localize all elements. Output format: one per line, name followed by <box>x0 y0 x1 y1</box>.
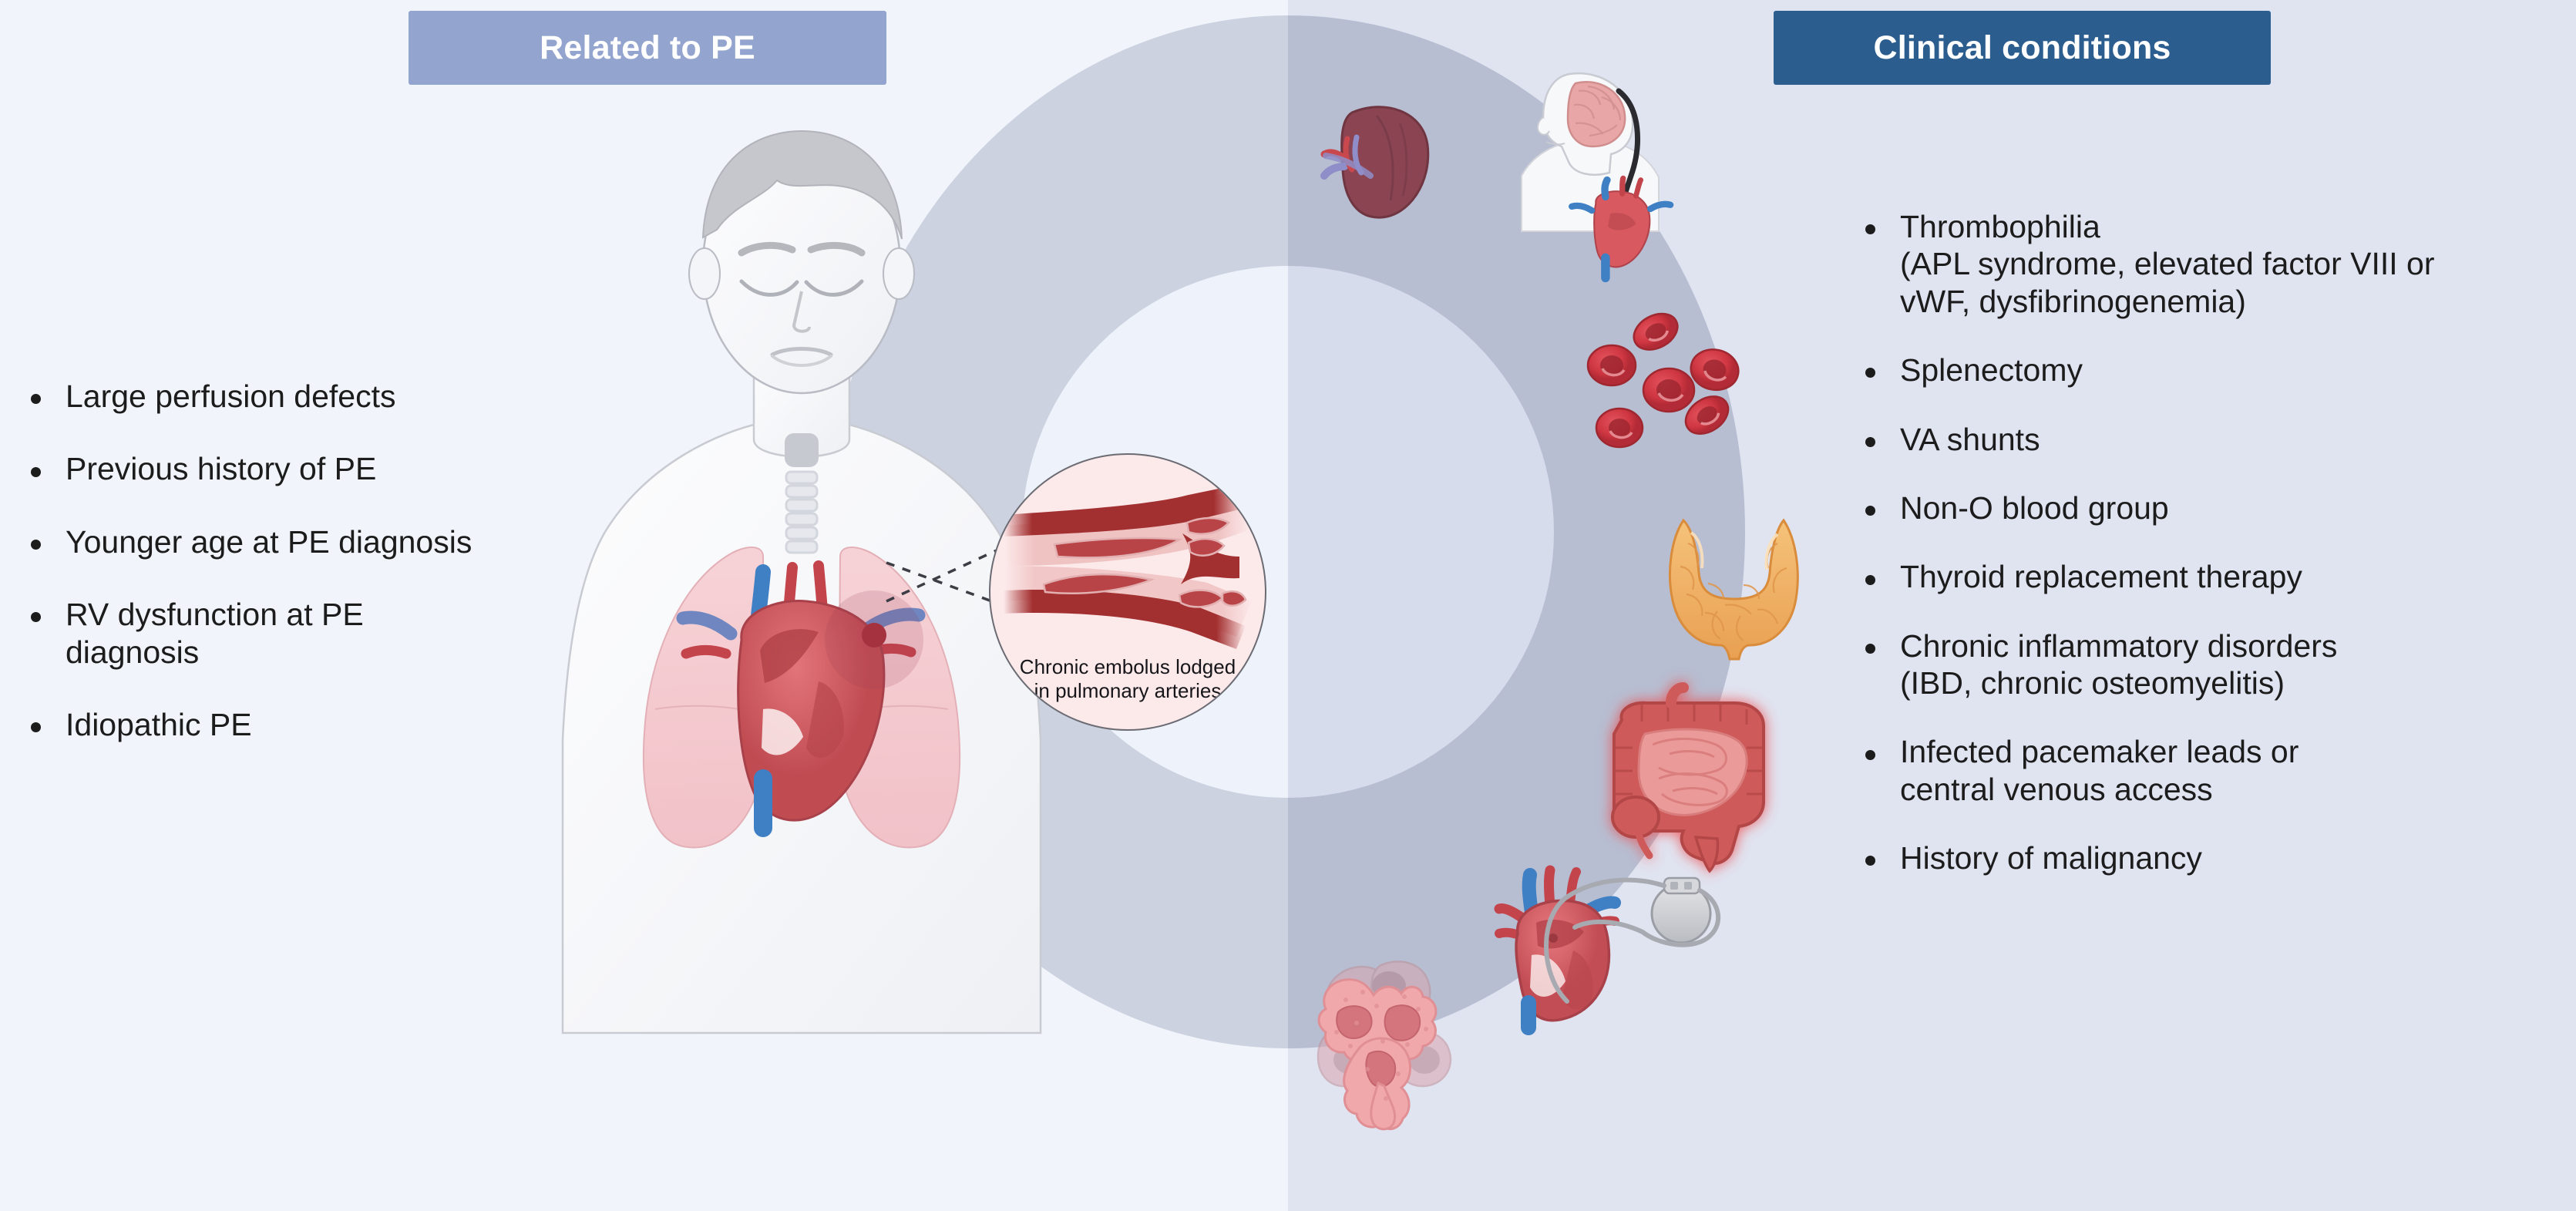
clinical-condition-label: Thrombophilia (APL syndrome, elevated fa… <box>1900 208 2435 320</box>
related-to-pe-item: RV dysfunction at PE diagnosis <box>31 596 617 671</box>
intestines-icon <box>1588 686 1796 879</box>
clinical-condition-item: Chronic inflammatory disorders (IBD, chr… <box>1865 627 2559 702</box>
clinical-condition-item: History of malignancy <box>1865 839 2559 876</box>
clinical-condition-label: Splenectomy <box>1900 352 2083 389</box>
clinical-condition-item: Non-O blood group <box>1865 489 2559 526</box>
clinical-condition-label: Infected pacemaker leads or central veno… <box>1900 733 2299 808</box>
header-chip-related-to-pe: Related to PE <box>409 11 886 85</box>
infographic-canvas: Chronic embolus lodged in pulmonary arte… <box>0 0 2576 1211</box>
heart-pacemaker-icon <box>1499 867 1754 1044</box>
bullet-dot-icon <box>31 467 41 477</box>
related-to-pe-item: Younger age at PE diagnosis <box>31 523 617 560</box>
bullet-dot-icon <box>31 540 41 550</box>
related-to-pe-label: RV dysfunction at PE diagnosis <box>66 596 364 671</box>
clinical-condition-label: VA shunts <box>1900 421 2040 458</box>
related-to-pe-label: Younger age at PE diagnosis <box>66 523 472 560</box>
clinical-conditions-list: Thrombophilia (APL syndrome, elevated fa… <box>1865 208 2559 909</box>
embolized-artery-illustration <box>1000 486 1255 651</box>
va-shunt-head-icon <box>1495 60 1673 245</box>
ring-hole-right <box>1288 266 1554 798</box>
clinical-condition-label: Thyroid replacement therapy <box>1900 558 2302 595</box>
header-chip-clinical-conditions: Clinical conditions <box>1774 11 2271 85</box>
bullet-dot-icon <box>1865 224 1875 234</box>
bullet-dot-icon <box>1865 644 1875 654</box>
related-to-pe-label: Idiopathic PE <box>66 706 252 743</box>
clinical-condition-label: Chronic inflammatory disorders (IBD, chr… <box>1900 627 2337 702</box>
bullet-dot-icon <box>31 394 41 404</box>
tumor-cells-icon <box>1303 952 1480 1145</box>
thyroid-gland-icon <box>1650 513 1819 663</box>
bullet-dot-icon <box>1865 575 1875 585</box>
bullet-dot-icon <box>31 612 41 622</box>
chronic-embolus-callout: Chronic embolus lodged in pulmonary arte… <box>989 453 1266 731</box>
bullet-dot-icon <box>31 722 41 732</box>
clinical-condition-item: Infected pacemaker leads or central veno… <box>1865 733 2559 808</box>
bullet-dot-icon <box>1865 368 1875 378</box>
clinical-condition-item: Splenectomy <box>1865 352 2559 389</box>
bullet-dot-icon <box>1865 437 1875 447</box>
related-to-pe-list: Large perfusion defectsPrevious history … <box>31 378 617 779</box>
related-to-pe-item: Large perfusion defects <box>31 378 617 415</box>
bullet-dot-icon <box>1865 856 1875 866</box>
clinical-condition-item: Thrombophilia (APL syndrome, elevated fa… <box>1865 208 2559 320</box>
clinical-condition-item: Thyroid replacement therapy <box>1865 558 2559 595</box>
clinical-condition-label: Non-O blood group <box>1900 489 2169 526</box>
spleen-icon <box>1310 93 1449 231</box>
related-to-pe-label: Large perfusion defects <box>66 378 396 415</box>
red-blood-cells-icon <box>1584 316 1777 486</box>
related-to-pe-item: Previous history of PE <box>31 450 617 487</box>
bullet-dot-icon <box>1865 506 1875 516</box>
clinical-condition-label: History of malignancy <box>1900 839 2202 876</box>
related-to-pe-item: Idiopathic PE <box>31 706 617 743</box>
bullet-dot-icon <box>1865 750 1875 760</box>
callout-caption: Chronic embolus lodged in pulmonary arte… <box>990 655 1265 703</box>
related-to-pe-label: Previous history of PE <box>66 450 376 487</box>
clinical-condition-item: VA shunts <box>1865 421 2559 458</box>
